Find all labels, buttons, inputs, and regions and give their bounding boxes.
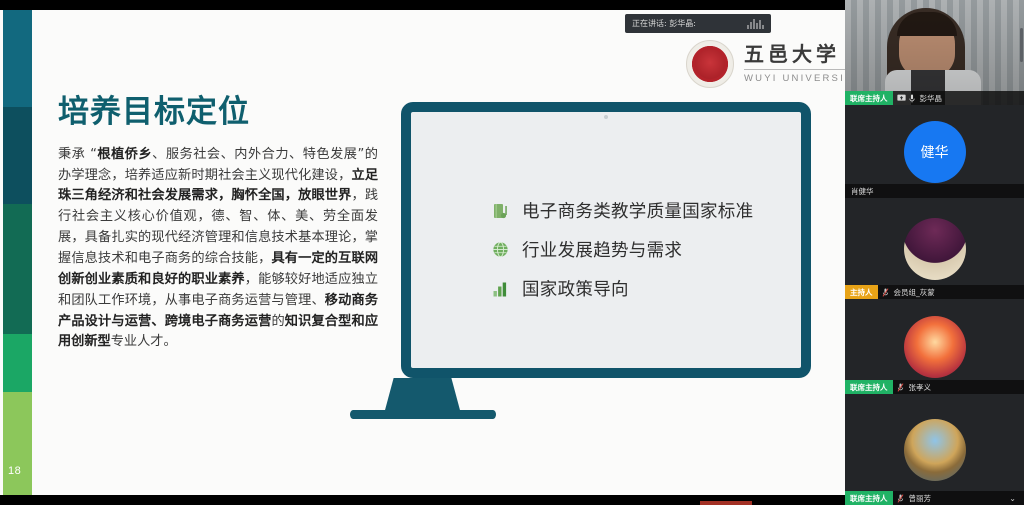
university-logo: 五邑大学 WUYI UNIVERSITY [686, 40, 845, 88]
microphone-muted-icon [882, 288, 889, 297]
avatar [904, 419, 966, 481]
role-badge-cohost: 联席主持人 [845, 91, 893, 105]
video-conference-window: 18 培养目标定位 秉承 “根植侨乡、服务社会、内外合力、特色发展”的办学理念，… [0, 0, 1024, 505]
rail-scrollbar[interactable] [1020, 28, 1023, 62]
participant-name-2: 肖健华 [851, 186, 874, 197]
bullet-list: 电子商务类教学质量国家标准 [489, 198, 753, 315]
avatar [904, 218, 966, 280]
monitor-screen: 电子商务类教学质量国家标准 [419, 124, 793, 360]
avatar-initials: 健华 [921, 142, 949, 162]
participant-name-3: 会员组_灰蒙 [894, 287, 935, 298]
participant-tile-1[interactable]: 联席主持人 彭华晶 [845, 0, 1024, 105]
monitor-stand-base [350, 410, 496, 419]
participant-rail[interactable]: 联席主持人 彭华晶 健华 [845, 0, 1024, 505]
monitor-illustration: 电子商务类教学质量国家标准 [401, 102, 811, 378]
university-name-en: WUYI UNIVERSITY [744, 73, 845, 84]
shared-screen-stage[interactable]: 18 培养目标定位 秉承 “根植侨乡、服务社会、内外合力、特色发展”的办学理念，… [0, 0, 845, 505]
bullet-item-3: 国家政策导向 [489, 276, 753, 301]
slide-number: 18 [8, 465, 21, 477]
stage-top-letterbox [0, 0, 845, 10]
ribbon-band-2 [3, 107, 32, 204]
participant-tile-3[interactable]: 主持人 会员组_灰蒙 [845, 198, 1024, 299]
university-divider [744, 69, 845, 70]
university-name-cn: 五邑大学 [744, 44, 845, 64]
participant-namebar-4: 联席主持人 张孝义 [845, 380, 1024, 394]
monitor-camera-dot [604, 115, 608, 119]
participant-tile-5[interactable]: 联席主持人 曾丽芳 ⌄ [845, 394, 1024, 505]
participant-name-4: 张孝义 [909, 382, 932, 393]
participant-namebar-1: 联席主持人 彭华晶 [845, 91, 1024, 105]
role-badge-cohost: 联席主持人 [845, 491, 893, 505]
participant-name-5: 曾丽芳 [909, 493, 932, 504]
role-badge-cohost: 联席主持人 [845, 380, 893, 394]
chevron-down-icon[interactable]: ⌄ [1009, 494, 1016, 503]
bullet-label-3: 国家政策导向 [522, 276, 629, 301]
ribbon-band-1 [3, 10, 32, 107]
active-speaker-chip: 正在讲话: 彭华晶: [625, 14, 771, 33]
slide-text-column: 培养目标定位 秉承 “根植侨乡、服务社会、内外合力、特色发展”的办学理念，培养适… [58, 95, 378, 353]
book-note-icon [489, 200, 511, 222]
slide-body-text: 秉承 “根植侨乡、服务社会、内外合力、特色发展”的办学理念，培养适应新时期社会主… [58, 145, 378, 354]
participant-tile-2[interactable]: 健华 肖健华 [845, 105, 1024, 198]
participant-namebar-5: 联席主持人 曾丽芳 ⌄ [845, 491, 1024, 505]
role-badge-host: 主持人 [845, 285, 878, 299]
tile-status-icons-3 [882, 288, 889, 297]
sound-wave-icon [747, 19, 764, 29]
tile-status-icons-4 [897, 383, 904, 392]
microphone-muted-icon [897, 383, 904, 392]
ribbon-band-5 [3, 392, 32, 495]
ribbon-band-4 [3, 334, 32, 392]
bullet-label-2: 行业发展趋势与需求 [522, 237, 682, 262]
slide-color-ribbon [3, 10, 32, 495]
participant-tile-4[interactable]: 联席主持人 张孝义 [845, 299, 1024, 394]
avatar [904, 316, 966, 378]
globe-icon [489, 239, 511, 261]
progress-marker [700, 501, 752, 505]
participant-video-feed [845, 0, 1024, 105]
microphone-muted-icon [897, 494, 904, 503]
participant-namebar-3: 主持人 会员组_灰蒙 [845, 285, 1024, 299]
university-seal-icon [686, 40, 734, 88]
presentation-slide: 18 培养目标定位 秉承 “根植侨乡、服务社会、内外合力、特色发展”的办学理念，… [0, 10, 845, 495]
microphone-icon [909, 94, 915, 103]
bullet-label-1: 电子商务类教学质量国家标准 [522, 198, 753, 223]
bullet-item-2: 行业发展趋势与需求 [489, 237, 753, 262]
tile-status-icons-5 [897, 494, 904, 503]
stage-bottom-letterbox [0, 495, 845, 505]
university-name-block: 五邑大学 WUYI UNIVERSITY [744, 44, 845, 84]
avatar: 健华 [904, 121, 966, 183]
bullet-item-1: 电子商务类教学质量国家标准 [489, 198, 753, 223]
monitor-stand-neck [385, 378, 461, 412]
participant-namebar-2: 肖健华 [845, 184, 1024, 198]
participant-name-1: 彭华晶 [920, 93, 943, 104]
ribbon-band-3 [3, 204, 32, 334]
bar-chart-icon [489, 278, 511, 300]
active-speaker-label: 正在讲话: 彭华晶: [632, 18, 696, 29]
screen-share-icon [897, 94, 906, 102]
slide-title: 培养目标定位 [58, 95, 378, 131]
tile-status-icons-1 [897, 94, 915, 103]
